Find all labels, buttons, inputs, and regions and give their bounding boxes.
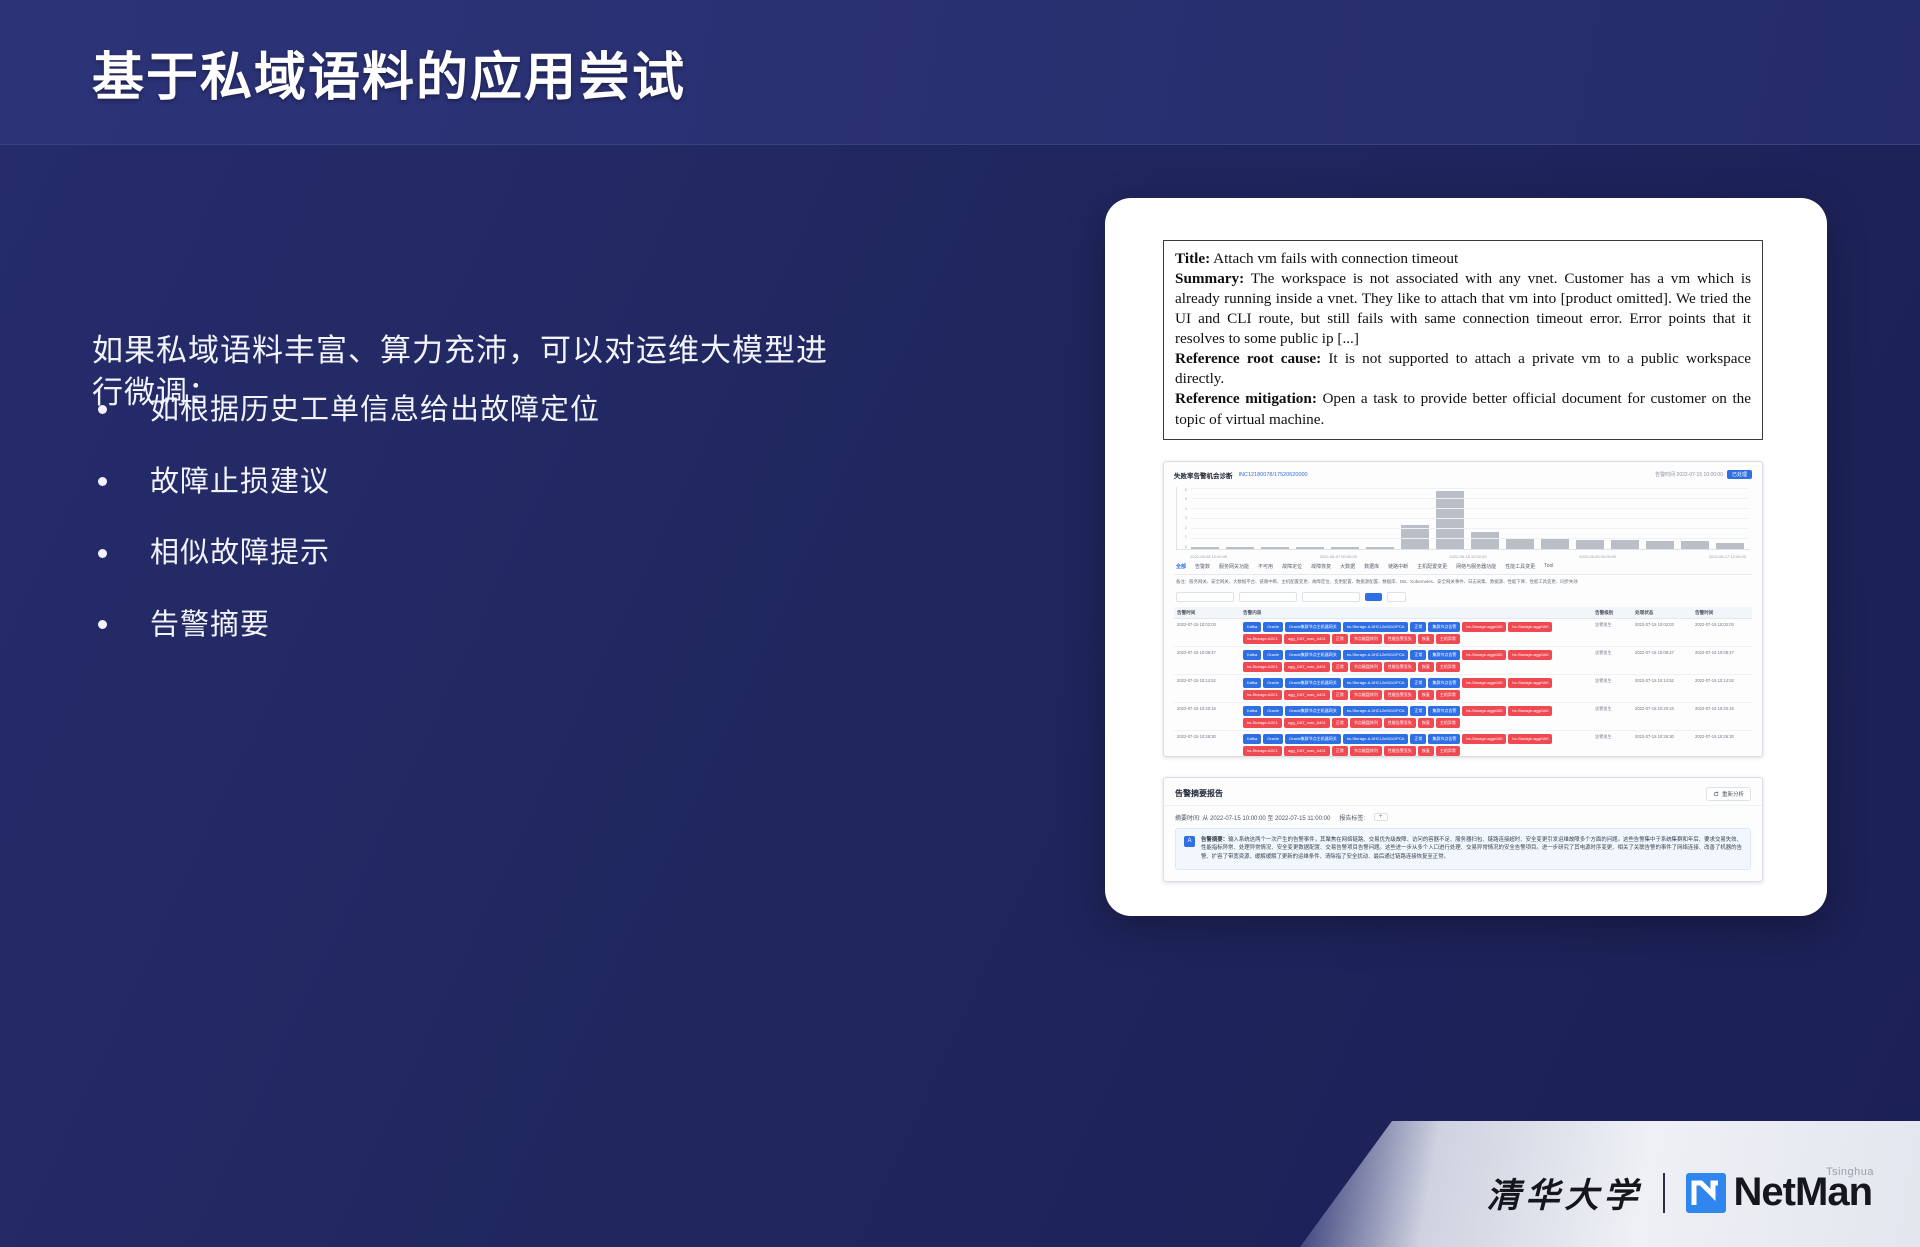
chart-bar: [1436, 491, 1464, 549]
chart-bar: [1261, 547, 1289, 549]
tag-blue[interactable]: Oracle: [1263, 734, 1283, 744]
tag-red[interactable]: bs-Storage-aggr0A0: [1508, 622, 1552, 632]
tag-red[interactable]: agg_DAT_max_A401: [1284, 690, 1330, 700]
cell-time2: 2022-07-15 10:08:47: [1692, 647, 1752, 675]
tag-red[interactable]: bs-Storage-A0C1: [1243, 634, 1282, 644]
tag-red[interactable]: bs-Storage-A0C1: [1243, 690, 1282, 700]
dashboard-body: 失败率告警机会诊断 INC12180078/17520620000 告警时间 2…: [1164, 462, 1762, 757]
cell-status: 2022-07-15 10:14:52: [1632, 675, 1692, 703]
tag-red[interactable]: 性能告警丢失: [1384, 718, 1416, 728]
tag-blue[interactable]: Kafka: [1243, 678, 1261, 688]
tag-red[interactable]: agg_DAT_max_A401: [1284, 718, 1330, 728]
ticket-summary-text: The workspace is not associated with any…: [1175, 270, 1751, 347]
tag-blue[interactable]: Kafka: [1243, 734, 1261, 744]
x-tick: 2022-06-07 00:00:00: [1320, 554, 1357, 559]
ticket-title-label: Title:: [1175, 250, 1210, 267]
tag-blue[interactable]: bs-Storage-A-0HCL2e501OPCA: [1343, 734, 1409, 744]
tsinghua-university-logo: 清华大学: [1487, 1168, 1643, 1217]
tag-red[interactable]: bs-Storage-aggr0A0: [1462, 734, 1506, 744]
cell-tags: KafkaOracleOracle集群节点主机器网关bs-Storage-A-0…: [1240, 675, 1592, 703]
chart-x-axis: 2022-06-08 12:00:00 2022-06-07 00:00:00 …: [1174, 552, 1752, 559]
x-tick: 2022-06-17 12:00:00: [1709, 554, 1746, 559]
column-header[interactable]: 告警时间: [1174, 607, 1240, 619]
filter-input[interactable]: [1302, 592, 1360, 602]
tag-blue[interactable]: Oracle集群节点主机器网关: [1285, 622, 1341, 632]
dashboard-title: 失败率告警机会诊断: [1174, 470, 1233, 480]
cell-level: 告警发生: [1592, 619, 1632, 647]
tag-blue[interactable]: bs-Storage-A-0HCL2e501OPCA: [1343, 678, 1409, 688]
ticket-mitigation-line: Reference mitigation: Open a task to pro…: [1175, 389, 1751, 429]
ticket-rootcause-line: Reference root cause: It is not supporte…: [1175, 349, 1751, 389]
ticket-text-block: Title: Attach vm fails with connection t…: [1163, 240, 1763, 440]
chart-gridline: [1191, 538, 1748, 539]
x-tick: 2022-06-08 12:00:00: [1190, 554, 1227, 559]
cell-time: 2022-07-15 10:26:30: [1174, 731, 1240, 757]
tag-blue[interactable]: Oracle集群节点主机器网关: [1285, 734, 1341, 744]
tag-red[interactable]: 主机异常: [1436, 634, 1460, 644]
bullet-dot-icon: [98, 620, 107, 629]
refresh-icon: [1713, 791, 1719, 797]
tag-red[interactable]: bs-Storage-A0C1: [1243, 746, 1282, 756]
dashboard-tab-8[interactable]: 链路中断: [1388, 563, 1408, 570]
chart-bar: [1576, 540, 1604, 549]
summary-icon: A: [1184, 836, 1195, 847]
table-row[interactable]: 2022-07-15 10:26:30KafkaOracleOracle集群节点…: [1174, 731, 1752, 757]
tag-blue[interactable]: Oracle集群节点主机器网关: [1285, 650, 1341, 660]
chart-bar: [1226, 547, 1254, 549]
tag-red[interactable]: 性能告警丢失: [1384, 634, 1416, 644]
tag-blue[interactable]: Oracle集群节点主机器网关: [1285, 678, 1341, 688]
tag-blue[interactable]: 正常: [1410, 678, 1426, 688]
ticket-title-text: Attach vm fails with connection timeout: [1210, 250, 1458, 267]
chart-bar: [1366, 547, 1394, 549]
bullet-text: 相似故障提示: [150, 537, 330, 569]
cell-time2: 2022-07-15 10:26:30: [1692, 731, 1752, 757]
dashboard-tab-4[interactable]: 故障定位: [1282, 563, 1302, 570]
status-badge: 已处理: [1727, 470, 1752, 479]
tag-red[interactable]: 正常: [1332, 690, 1348, 700]
cell-time2: 2022-07-15 10:20:16: [1692, 703, 1752, 731]
table-row[interactable]: 2022-07-15 10:20:16KafkaOracleOracle集群节点…: [1174, 703, 1752, 731]
report-time-range: 摘要时间: 从 2022-07-15 10:00:00 至 2022-07-15…: [1175, 813, 1330, 822]
tag-red[interactable]: bs-Storage-aggr0A0: [1462, 706, 1506, 716]
tag-red[interactable]: bs-Storage-aggr0A0: [1508, 706, 1552, 716]
right-image-card: Title: Attach vm fails with connection t…: [1105, 198, 1827, 916]
tag-red[interactable]: bs-Storage-aggr0A0: [1462, 678, 1506, 688]
report-summary-box: A 告警摘要：输入系统这两个一次产生的告警事件，其聚焦在网络链路、交易优先级故障…: [1175, 828, 1751, 870]
cell-tags: KafkaOracleOracle集群节点主机器网关bs-Storage-A-0…: [1240, 731, 1592, 757]
tag-red[interactable]: 性能告警丢失: [1384, 746, 1416, 756]
reanalyze-button[interactable]: 重新分析: [1706, 787, 1751, 801]
cell-time2: 2022-07-15 10:14:52: [1692, 675, 1752, 703]
tag-blue[interactable]: Kafka: [1243, 622, 1261, 632]
cell-level: 告警发生: [1592, 647, 1632, 675]
report-tag-label: 报告标签:: [1339, 813, 1365, 822]
tag-red[interactable]: bs-Storage-A0C1: [1243, 662, 1282, 672]
cell-tags: KafkaOracleOracle集群节点主机器网关bs-Storage-A-0…: [1240, 703, 1592, 731]
chart-bar: [1331, 547, 1359, 549]
bullet-text: 如根据历史工单信息给出故障定位: [150, 394, 600, 426]
dashboard-header-right: 告警时间 2022-07-15 10:00:00 已处理: [1655, 470, 1752, 479]
chart-bar: [1716, 543, 1744, 548]
tag-red[interactable]: 恢复: [1418, 718, 1434, 728]
tag-red[interactable]: 主机异常: [1436, 662, 1460, 672]
report-summary-body: 输入系统这两个一次产生的告警事件，其聚焦在网络链路、交易优先级故障、访问的容器不…: [1201, 837, 1742, 861]
bullet-text: 告警摘要: [150, 609, 270, 641]
tag-blue[interactable]: Kafka: [1243, 650, 1261, 660]
dashboard-tab-10[interactable]: 网络与服务器功能: [1456, 563, 1496, 570]
bullet-dot-icon: [98, 549, 107, 558]
dashboard-tab-2[interactable]: 服务网关功能: [1219, 563, 1249, 570]
cell-level: 告警发生: [1592, 675, 1632, 703]
tag-blue[interactable]: 正常: [1410, 622, 1426, 632]
report-summary-label: 告警摘要：: [1201, 837, 1228, 843]
tag-group: KafkaOracleOracle集群节点主机器网关bs-Storage-A-0…: [1243, 706, 1589, 728]
tag-red[interactable]: bs-Storage-aggr0A0: [1508, 678, 1552, 688]
cell-level: 告警发生: [1592, 703, 1632, 731]
tag-red[interactable]: agg_DAT_max_A401: [1284, 634, 1330, 644]
logo-divider: [1663, 1173, 1665, 1213]
ticket-title-line: Title: Attach vm fails with connection t…: [1175, 249, 1751, 269]
dashboard-tab-3[interactable]: 不可用: [1258, 563, 1273, 570]
tag-red[interactable]: 节点磁盘阵列: [1350, 746, 1382, 756]
ticket-summary-label: Summary:: [1175, 270, 1244, 287]
tag-red[interactable]: bs-Storage-aggr0A0: [1462, 622, 1506, 632]
tag-red[interactable]: 主机异常: [1436, 690, 1460, 700]
tag-blue[interactable]: 集群节点告警: [1428, 706, 1460, 716]
reset-button[interactable]: [1387, 592, 1406, 602]
tag-blue[interactable]: 正常: [1410, 734, 1426, 744]
report-header: 告警摘要报告 重新分析: [1164, 778, 1762, 806]
bullet-list: 如根据历史工单信息给出故障定位 故障止损建议 相似故障提示 告警摘要: [92, 392, 872, 679]
dashboard-tab-6[interactable]: 大数据: [1340, 563, 1355, 570]
tag-red[interactable]: 正常: [1332, 662, 1348, 672]
dashboard-tab-9[interactable]: 主机配置变更: [1417, 563, 1447, 570]
tag-red[interactable]: 正常: [1332, 746, 1348, 756]
page-title: 基于私域语料的应用尝试: [92, 35, 686, 110]
tag-group: KafkaOracleOracle集群节点主机器网关bs-Storage-A-0…: [1243, 650, 1589, 672]
tag-red[interactable]: 恢复: [1418, 690, 1434, 700]
dashboard-tab-11[interactable]: 性能工具变更: [1505, 563, 1535, 570]
tag-blue[interactable]: Oracle: [1263, 622, 1283, 632]
tag-red[interactable]: 性能告警丢失: [1384, 690, 1416, 700]
x-tick: 2022-06-05 00:00:00: [1579, 554, 1616, 559]
alert-table: 告警时间告警内容告警级别处理状态告警时间2022-07-15 10:02:03K…: [1174, 607, 1752, 756]
tag-red[interactable]: agg_DAT_max_A401: [1284, 746, 1330, 756]
bullet-text: 故障止损建议: [150, 466, 330, 498]
table-row[interactable]: 2022-07-15 10:02:03KafkaOracleOracle集群节点…: [1174, 619, 1752, 647]
tag-blue[interactable]: 正常: [1410, 650, 1426, 660]
dashboard-tab-12[interactable]: Tool: [1544, 563, 1553, 569]
column-header[interactable]: 告警级别: [1592, 607, 1632, 619]
list-item: 相似故障提示: [92, 535, 872, 573]
chart-gridline: [1191, 508, 1748, 509]
cell-tags: KafkaOracleOracle集群节点主机器网关bs-Storage-A-0…: [1240, 619, 1592, 647]
dashboard-screenshot: 失败率告警机会诊断 INC12180078/17520620000 告警时间 2…: [1163, 461, 1763, 757]
tag-red[interactable]: 性能告警丢失: [1384, 662, 1416, 672]
tag-blue[interactable]: Oracle: [1263, 678, 1283, 688]
tag-red[interactable]: agg_DAT_max_A401: [1284, 662, 1330, 672]
ticket-summary-line: Summary: The workspace is not associated…: [1175, 269, 1751, 349]
table-row[interactable]: 2022-07-15 10:14:52KafkaOracleOracle集群节点…: [1174, 675, 1752, 703]
cell-status: 2022-07-15 10:02:03: [1632, 619, 1692, 647]
cell-time: 2022-07-15 10:02:03: [1174, 619, 1240, 647]
ticket-mitigation-label: Reference mitigation:: [1175, 390, 1317, 407]
column-header[interactable]: 告警内容: [1240, 607, 1592, 619]
tag-red[interactable]: bs-Storage-aggr0A0: [1508, 734, 1552, 744]
netman-logo: NetMan Tsinghua: [1685, 1170, 1872, 1215]
chart-gridline: [1191, 528, 1748, 529]
chart-bar: [1541, 538, 1569, 549]
tag-blue[interactable]: 集群节点告警: [1428, 650, 1460, 660]
tag-blue[interactable]: bs-Storage-A-0HCL2e501OPCA: [1343, 622, 1409, 632]
alert-summary-report-card: 告警摘要报告 重新分析 摘要时间: 从 2022-07-15 10:00:00 …: [1163, 777, 1763, 882]
dashboard-tab-5[interactable]: 故障恢复: [1311, 563, 1331, 570]
dashboard-tabs[interactable]: 全部告警数服务网关功能不可用故障定位故障恢复大数据数据库链路中断主机配置变更网络…: [1174, 559, 1752, 575]
report-meta: 摘要时间: 从 2022-07-15 10:00:00 至 2022-07-15…: [1164, 806, 1762, 828]
dashboard-tab-1[interactable]: 告警数: [1195, 563, 1210, 570]
column-header[interactable]: 告警时间: [1692, 607, 1752, 619]
chart-bar: [1296, 547, 1324, 549]
chart-gridline: [1191, 518, 1748, 519]
tag-blue[interactable]: Oracle: [1263, 706, 1283, 716]
ticket-rootcause-label: Reference root cause:: [1175, 350, 1321, 367]
cell-status: 2022-07-15 10:08:47: [1632, 647, 1692, 675]
slide-root: 基于私域语料的应用尝试 如果私域语料丰富、算力充沛，可以对运维大模型进行微调： …: [0, 0, 1920, 1247]
column-header[interactable]: 处理状态: [1632, 607, 1692, 619]
tag-group: KafkaOracleOracle集群节点主机器网关bs-Storage-A-0…: [1243, 622, 1589, 644]
chart-bar: [1191, 547, 1219, 549]
list-item: 故障止损建议: [92, 464, 872, 502]
legend-note: 备注：服务网关、安全网关、大数据平台、链路中断、主机配置变更、故障定位、变更配置…: [1174, 575, 1752, 590]
bullet-dot-icon: [98, 405, 107, 414]
card-content: Title: Attach vm fails with connection t…: [1163, 240, 1763, 882]
tag-blue[interactable]: 集群节点告警: [1428, 622, 1460, 632]
cell-status: 2022-07-15 10:26:30: [1632, 731, 1692, 757]
report-summary-text: 告警摘要：输入系统这两个一次产生的告警事件，其聚焦在网络链路、交易优先级故障、访…: [1201, 836, 1742, 862]
tag-red[interactable]: bs-Storage-aggr0A0: [1462, 650, 1506, 660]
tag-group: KafkaOracleOracle集群节点主机器网关bs-Storage-A-0…: [1243, 734, 1589, 756]
tag-blue[interactable]: bs-Storage-A-0HCL2e501OPCA: [1343, 650, 1409, 660]
chart-gridline: [1191, 488, 1748, 489]
tag-group: KafkaOracleOracle集群节点主机器网关bs-Storage-A-0…: [1243, 678, 1589, 700]
chart-gridline: [1191, 498, 1748, 499]
dashboard-incident-link[interactable]: INC12180078/17520620000: [1239, 472, 1308, 478]
tag-red[interactable]: 恢复: [1418, 662, 1434, 672]
table-header-row: 告警时间告警内容告警级别处理状态告警时间: [1174, 607, 1752, 619]
cell-tags: KafkaOracleOracle集群节点主机器网关bs-Storage-A-0…: [1240, 647, 1592, 675]
tag-red[interactable]: 恢复: [1418, 746, 1434, 756]
tag-blue[interactable]: 正常: [1410, 706, 1426, 716]
tag-red[interactable]: 恢复: [1418, 634, 1434, 644]
filter-input[interactable]: [1176, 592, 1234, 602]
cell-time2: 2022-07-15 10:02:03: [1692, 619, 1752, 647]
tag-blue[interactable]: Oracle: [1263, 650, 1283, 660]
dashboard-tab-7[interactable]: 数据库: [1364, 563, 1379, 570]
dashboard-header: 失败率告警机会诊断 INC12180078/17520620000 告警时间 2…: [1174, 470, 1752, 480]
chart-bar: [1471, 532, 1499, 548]
filter-input[interactable]: [1239, 592, 1297, 602]
cell-time: 2022-07-15 10:14:52: [1174, 675, 1240, 703]
chart-bar: [1681, 541, 1709, 548]
tag-red[interactable]: 主机异常: [1436, 746, 1460, 756]
tag-red[interactable]: 正常: [1332, 634, 1348, 644]
reanalyze-label: 重新分析: [1722, 790, 1744, 798]
tag-red[interactable]: 主机异常: [1436, 718, 1460, 728]
tag-red[interactable]: 节点磁盘阵列: [1350, 690, 1382, 700]
netman-sup-label: Tsinghua: [1826, 1166, 1874, 1178]
tag-red[interactable]: 节点磁盘阵列: [1350, 718, 1382, 728]
dashboard-tab-0[interactable]: 全部: [1176, 563, 1186, 570]
tag-red[interactable]: bs-Storage-A0C1: [1243, 718, 1282, 728]
tag-red[interactable]: 节点磁盘阵列: [1350, 662, 1382, 672]
chart-area: 6 5 4 3 2 1 0 2022-06-08 12:00:00 2022-0…: [1174, 487, 1752, 559]
netman-mark-icon: [1685, 1172, 1727, 1214]
footer-logos: 清华大学 NetMan Tsinghua: [1487, 1168, 1872, 1217]
cell-time: 2022-07-15 10:08:47: [1174, 647, 1240, 675]
tag-blue[interactable]: bs-Storage-A-0HCL2e501OPCA: [1343, 706, 1409, 716]
tag-blue[interactable]: Oracle集群节点主机器网关: [1285, 706, 1341, 716]
report-title: 告警摘要报告: [1175, 788, 1223, 799]
query-button[interactable]: [1365, 593, 1382, 601]
bullet-dot-icon: [98, 477, 107, 486]
chart-bar: [1646, 541, 1674, 548]
tag-blue[interactable]: Kafka: [1243, 706, 1261, 716]
list-item: 告警摘要: [92, 607, 872, 645]
add-tag-button[interactable]: +: [1374, 813, 1388, 821]
table-row[interactable]: 2022-07-15 10:08:47KafkaOracleOracle集群节点…: [1174, 647, 1752, 675]
tag-blue[interactable]: 集群节点告警: [1428, 678, 1460, 688]
list-item: 如根据历史工单信息给出故障定位: [92, 392, 872, 430]
x-tick: 2022-06-18 12:00:00: [1449, 554, 1486, 559]
tag-red[interactable]: 节点磁盘阵列: [1350, 634, 1382, 644]
bar-chart: [1176, 487, 1750, 550]
tag-red[interactable]: 正常: [1332, 718, 1348, 728]
chart-bar: [1506, 538, 1534, 549]
dashboard-meta: 告警时间 2022-07-15 10:00:00: [1655, 471, 1723, 478]
tag-red[interactable]: bs-Storage-aggr0A0: [1508, 650, 1552, 660]
cell-status: 2022-07-15 10:20:16: [1632, 703, 1692, 731]
cell-level: 告警发生: [1592, 731, 1632, 757]
filter-bar[interactable]: [1174, 589, 1752, 607]
tag-blue[interactable]: 集群节点告警: [1428, 734, 1460, 744]
chart-bar: [1611, 540, 1639, 549]
cell-time: 2022-07-15 10:20:16: [1174, 703, 1240, 731]
